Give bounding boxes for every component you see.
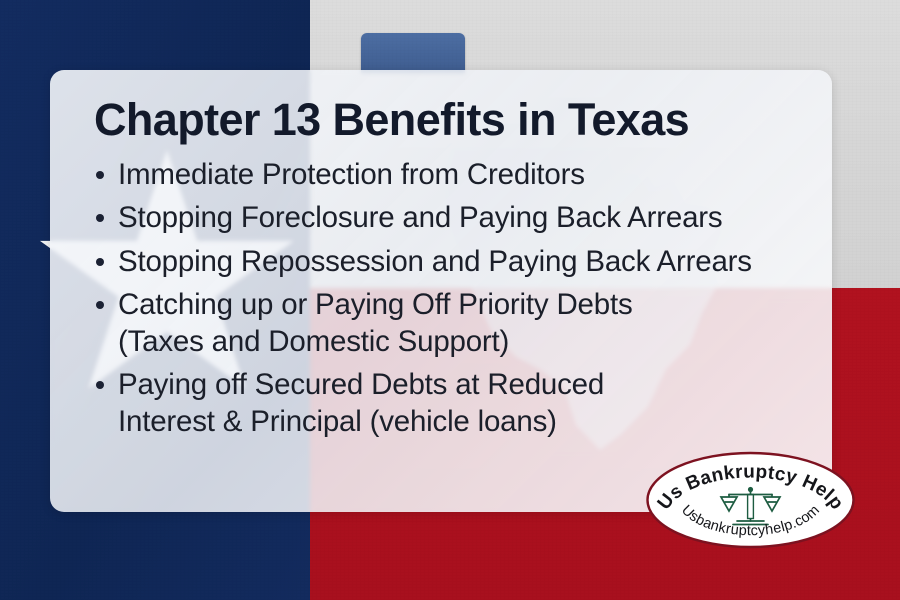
list-item-label: Paying off Secured Debts at Reduced <box>118 368 604 401</box>
list-item: Catching up or Paying Off Priority Debts… <box>94 287 804 360</box>
bullet-icon <box>96 258 104 266</box>
logo-badge[interactable]: Us Bankruptcy Help Usbankruptcyhelp.com <box>645 451 856 549</box>
blue-tab-accent <box>361 33 465 73</box>
list-item: Stopping Foreclosure and Paying Back Arr… <box>94 200 804 237</box>
list-item-label: Stopping Foreclosure and Paying Back Arr… <box>118 201 722 234</box>
bullet-icon <box>96 214 104 222</box>
benefits-list: Immediate Protection from Creditors Stop… <box>94 157 804 441</box>
list-item-label-line2: Interest & Principal (vehicle loans) <box>118 404 804 441</box>
poster-canvas: Chapter 13 Benefits in Texas Immediate P… <box>0 0 900 600</box>
bullet-icon <box>96 171 104 179</box>
list-item: Stopping Repossession and Paying Back Ar… <box>94 244 804 281</box>
list-item-label: Immediate Protection from Creditors <box>118 158 585 191</box>
bullet-icon <box>96 301 104 309</box>
list-item-label-line2: (Taxes and Domestic Support) <box>118 324 804 361</box>
page-title: Chapter 13 Benefits in Texas <box>94 96 804 145</box>
bullet-icon <box>96 381 104 389</box>
list-item: Paying off Secured Debts at Reduced Inte… <box>94 367 804 440</box>
list-item-label: Stopping Repossession and Paying Back Ar… <box>118 245 752 278</box>
content-card: Chapter 13 Benefits in Texas Immediate P… <box>50 70 832 512</box>
list-item-label: Catching up or Paying Off Priority Debts <box>118 288 633 321</box>
list-item: Immediate Protection from Creditors <box>94 157 804 194</box>
